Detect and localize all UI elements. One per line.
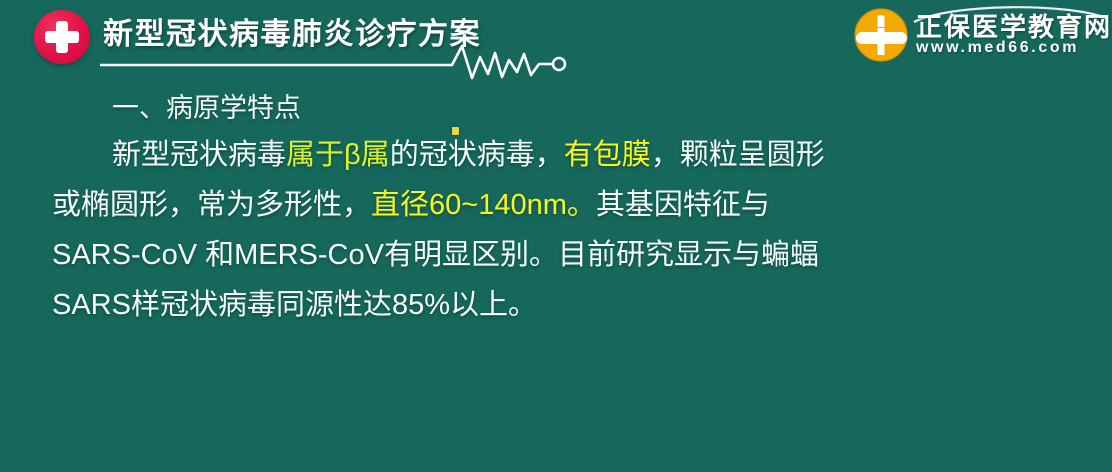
- section-heading: 一、病原学特点: [0, 86, 1112, 130]
- paragraph-line: SARS-CoV 和MERS-CoV有明显区别。目前研究显示与蝙蝠: [0, 230, 1112, 280]
- highlighted-text-segment: 直径60~140nm。: [371, 189, 596, 221]
- brand-logo: 正保医学教育网 www.med66.com: [854, 6, 1104, 68]
- slide-body: 一、病原学特点 新型冠状病毒属于β属的冠状病毒，有包膜，颗粒呈圆形或椭圆形，常为…: [0, 86, 1112, 330]
- paragraph-line: 或椭圆形，常为多形性，直径60~140nm。其基因特征与: [0, 180, 1112, 230]
- text-segment: 其基因特征与: [596, 189, 770, 221]
- slide-canvas: 新型冠状病毒肺炎诊疗方案 正保医学教育网 www.me: [0, 0, 1112, 472]
- slide-header: 新型冠状病毒肺炎诊疗方案 正保医学教育网 www.me: [0, 0, 1112, 82]
- text-segment: ，颗粒呈圆形: [651, 139, 825, 171]
- paragraph-line: SARS样冠状病毒同源性达85%以上。: [0, 280, 1112, 330]
- cursor-dot-artifact: [452, 127, 459, 135]
- medical-cross-icon: [34, 10, 90, 64]
- medical-cross-circle-logo-icon: [854, 8, 908, 62]
- paragraph-container: 新型冠状病毒属于β属的冠状病毒，有包膜，颗粒呈圆形或椭圆形，常为多形性，直径60…: [0, 130, 1112, 330]
- text-segment: SARS-CoV 和MERS-CoV有明显区别。目前研究显示与蝙蝠: [52, 239, 819, 271]
- highlighted-text-segment: 属于β属: [286, 139, 390, 171]
- brand-url: www.med66.com: [916, 39, 1079, 57]
- paragraph-line: 新型冠状病毒属于β属的冠状病毒，有包膜，颗粒呈圆形: [0, 130, 1112, 180]
- text-segment: 或椭圆形，常为多形性，: [52, 189, 371, 221]
- text-segment: 新型冠状病毒: [112, 139, 286, 171]
- highlighted-text-segment: 有包膜: [564, 139, 651, 171]
- text-segment: SARS样冠状病毒同源性达85%以上。: [52, 289, 537, 321]
- ecg-heartbeat-line-icon: [100, 44, 570, 86]
- text-segment: 的冠状病毒，: [390, 139, 564, 171]
